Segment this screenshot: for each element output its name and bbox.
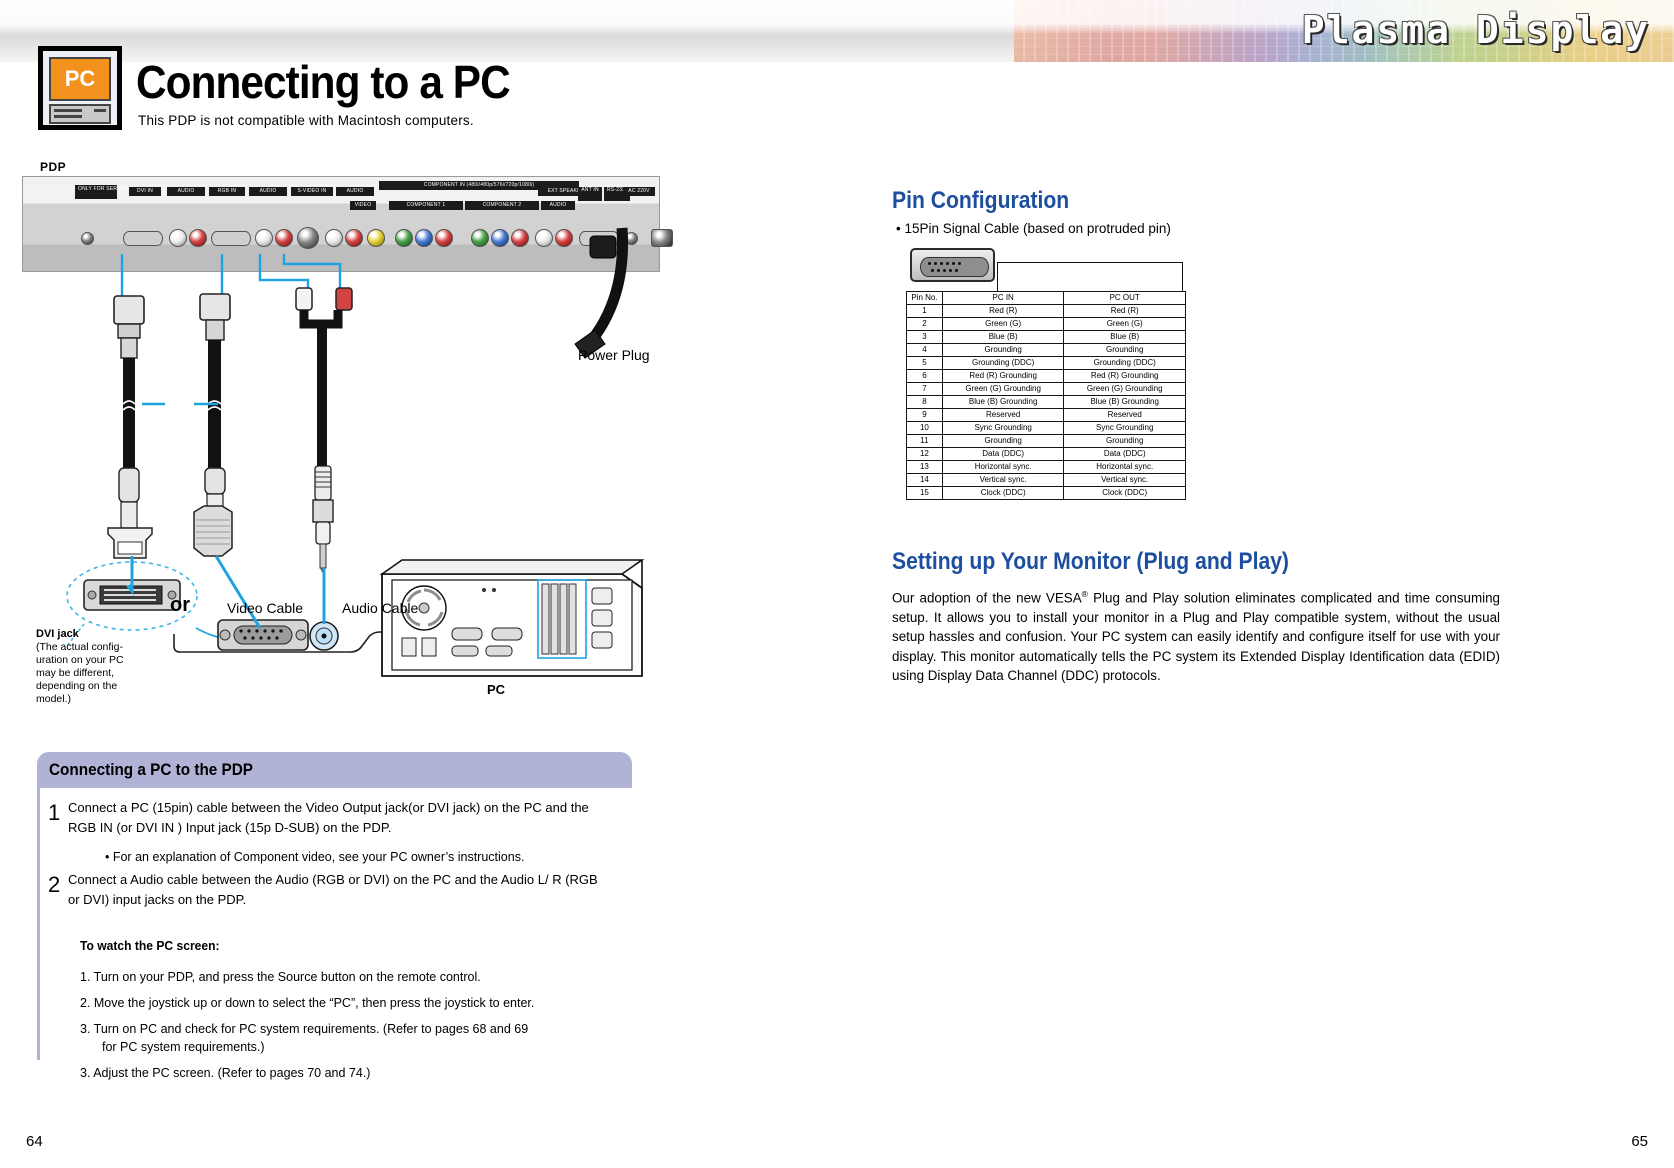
pin-out: Red (R) <box>1064 305 1186 318</box>
pin-in: Sync Grounding <box>942 422 1064 435</box>
pin-table-col-pc-in: PC IN <box>942 292 1064 305</box>
pin-no: 13 <box>907 461 943 474</box>
pin-in: Grounding (DDC) <box>942 357 1064 370</box>
table-row: 3Blue (B)Blue (B) <box>907 331 1186 344</box>
dsub-connector-icon <box>910 248 995 282</box>
table-row: 12Data (DDC)Data (DDC) <box>907 448 1186 461</box>
audio-cable <box>296 288 352 574</box>
pin-out: Green (G) <box>1064 318 1186 331</box>
pin-in: Green (G) Grounding <box>942 383 1064 396</box>
step-1-line-2: RGB IN (or DVI IN ) Input jack (15p D-SU… <box>68 818 635 838</box>
instruction-box-body: 1 Connect a PC (15pin) cable between the… <box>37 788 632 1060</box>
table-row: 14Vertical sync.Vertical sync. <box>907 474 1186 487</box>
pc-icon-base <box>49 104 111 124</box>
pc-icon-label: PC <box>49 57 111 101</box>
table-row: 5Grounding (DDC)Grounding (DDC) <box>907 357 1186 370</box>
dvi-caption-line-4: depending on the <box>36 680 117 692</box>
dsub-pin-row-bottom <box>931 269 958 272</box>
table-row: 1Red (R)Red (R) <box>907 305 1186 318</box>
pin-out: Clock (DDC) <box>1064 487 1186 500</box>
pin-configuration-title: Pin Configuration <box>892 187 1069 215</box>
pin-out: Grounding <box>1064 344 1186 357</box>
page-number-left: 64 <box>26 1133 43 1150</box>
pin-configuration-table: Pin No. PC IN PC OUT 1Red (R)Red (R) 2Gr… <box>906 291 1186 500</box>
pin-no: 5 <box>907 357 943 370</box>
dsub-leader-vertical <box>997 262 998 291</box>
table-row: 8Blue (B) GroundingBlue (B) Grounding <box>907 396 1186 409</box>
pin-no: 2 <box>907 318 943 331</box>
watch-item-1: 1. Turn on your PDP, and press the Sourc… <box>80 968 481 986</box>
pin-in: Blue (B) <box>942 331 1064 344</box>
pin-no: 3 <box>907 331 943 344</box>
pin-no: 12 <box>907 448 943 461</box>
watch-item-3-cont: for PC system requirements.) <box>102 1038 265 1056</box>
banner-title: Plasma Display <box>1302 8 1650 52</box>
page-subtitle: This PDP is not compatible with Macintos… <box>138 113 474 128</box>
pin-in: Reserved <box>942 409 1064 422</box>
watch-item-4: 3. Adjust the PC screen. (Refer to pages… <box>80 1064 370 1082</box>
pin-out: Grounding (DDC) <box>1064 357 1186 370</box>
pin-out: Blue (B) Grounding <box>1064 396 1186 409</box>
pc-icon-inner: PC <box>43 51 117 125</box>
instruction-box-title: Connecting a PC to the PDP <box>49 760 253 780</box>
pin-out: Green (G) Grounding <box>1064 383 1186 396</box>
dsub-leader-horizontal <box>997 262 1182 263</box>
pin-no: 15 <box>907 487 943 500</box>
table-row: 15Clock (DDC)Clock (DDC) <box>907 487 1186 500</box>
dvi-caption-line-3: may be different, <box>36 667 114 679</box>
dsub-leader-right <box>1182 262 1183 291</box>
table-row: 13Horizontal sync.Horizontal sync. <box>907 461 1186 474</box>
pin-out: Reserved <box>1064 409 1186 422</box>
audio-jack-port <box>310 622 338 650</box>
step-1-line-1: Connect a PC (15pin) cable between the V… <box>68 798 635 818</box>
pin-no: 10 <box>907 422 943 435</box>
table-row: 4GroundingGrounding <box>907 344 1186 357</box>
pin-out: Red (R) Grounding <box>1064 370 1186 383</box>
pin-in: Grounding <box>942 344 1064 357</box>
table-row: 2Green (G)Green (G) <box>907 318 1186 331</box>
dvi-caption-line-1: (The actual config- <box>36 641 123 653</box>
pin-in: Red (R) <box>942 305 1064 318</box>
step-2-number: 2 <box>48 875 60 895</box>
pin-table-header-row: Pin No. PC IN PC OUT <box>907 292 1186 305</box>
pin-in: Horizontal sync. <box>942 461 1064 474</box>
pin-in: Vertical sync. <box>942 474 1064 487</box>
pin-table-col-pin-no: Pin No. <box>907 292 943 305</box>
page-number-right: 65 <box>1631 1133 1648 1150</box>
vga-connect-line <box>216 556 260 628</box>
pin-in: Data (DDC) <box>942 448 1064 461</box>
watch-item-2: 2. Move the joystick up or down to selec… <box>80 994 534 1012</box>
pin-in: Red (R) Grounding <box>942 370 1064 383</box>
pin-configuration-bullet: • 15Pin Signal Cable (based on protruded… <box>896 221 1171 236</box>
pin-out: Data (DDC) <box>1064 448 1186 461</box>
pin-in: Clock (DDC) <box>942 487 1064 500</box>
table-row: 11GroundingGrounding <box>907 435 1186 448</box>
pin-table-body: Pin No. PC IN PC OUT 1Red (R)Red (R) 2Gr… <box>907 292 1186 500</box>
pin-no: 8 <box>907 396 943 409</box>
pin-no: 7 <box>907 383 943 396</box>
pc-tower <box>382 560 642 676</box>
pdp-label: PDP <box>40 160 66 174</box>
video-cable-label: Video Cable <box>227 600 303 616</box>
pin-in: Green (G) <box>942 318 1064 331</box>
pin-in: Grounding <box>942 435 1064 448</box>
power-plug-label: Power Plug <box>578 347 650 363</box>
dsub-pin-row-top <box>928 262 961 265</box>
pin-no: 14 <box>907 474 943 487</box>
pc-monitor-icon: PC <box>38 46 122 130</box>
plug-and-play-title: Setting up Your Monitor (Plug and Play) <box>892 548 1289 576</box>
pin-no: 9 <box>907 409 943 422</box>
step-1-bullet: • For an explanation of Component video,… <box>105 850 524 864</box>
watch-item-3: 3. Turn on PC and check for PC system re… <box>80 1020 528 1038</box>
plug-and-play-paragraph: Our adoption of the new VESA® Plug and P… <box>892 585 1500 686</box>
pc-tower-label: PC <box>487 682 505 697</box>
pin-out: Blue (B) <box>1064 331 1186 344</box>
instruction-step-1: 1 Connect a PC (15pin) cable between the… <box>40 798 635 838</box>
dvi-caption-line-5: model.) <box>36 693 71 705</box>
pin-out: Vertical sync. <box>1064 474 1186 487</box>
step-1-number: 1 <box>48 803 60 823</box>
pin-table-col-pc-out: PC OUT <box>1064 292 1186 305</box>
instruction-step-2: 2 Connect a Audio cable between the Audi… <box>40 870 635 910</box>
pin-no: 11 <box>907 435 943 448</box>
audio-cable-label: Audio Cable <box>342 600 418 616</box>
watch-pc-screen-heading: To watch the PC screen: <box>80 938 220 953</box>
step-2-line-1: Connect a Audio cable between the Audio … <box>68 870 635 890</box>
page-title: Connecting to a PC <box>136 55 510 109</box>
pin-in: Blue (B) Grounding <box>942 396 1064 409</box>
step-2-line-2: or DVI) input jacks on the PDP. <box>68 890 635 910</box>
pin-out: Grounding <box>1064 435 1186 448</box>
dvi-caption-line-2: uration on your PC <box>36 654 124 666</box>
pin-no: 1 <box>907 305 943 318</box>
vga-port <box>218 620 308 650</box>
pin-out: Sync Grounding <box>1064 422 1186 435</box>
dvi-jack-caption-title: DVI jack <box>36 628 79 640</box>
pnp-text-before-sup: Our adoption of the new VESA <box>892 590 1082 605</box>
dsub-slot <box>920 257 989 277</box>
dvi-jack-caption: DVI jack (The actual config- uration on … <box>36 628 141 706</box>
instruction-box-header: Connecting a PC to the PDP <box>37 752 632 788</box>
table-row: 10Sync GroundingSync Grounding <box>907 422 1186 435</box>
power-cable <box>575 228 623 358</box>
or-label: or <box>170 594 190 617</box>
table-row: 6Red (R) GroundingRed (R) Grounding <box>907 370 1186 383</box>
pin-out: Horizontal sync. <box>1064 461 1186 474</box>
vga-cable <box>194 294 232 556</box>
dvi-cable <box>108 296 152 558</box>
table-row: 7Green (G) GroundingGreen (G) Grounding <box>907 383 1186 396</box>
top-banner: Plasma Display <box>0 0 1674 62</box>
table-row: 9ReservedReserved <box>907 409 1186 422</box>
pin-no: 6 <box>907 370 943 383</box>
pin-no: 4 <box>907 344 943 357</box>
